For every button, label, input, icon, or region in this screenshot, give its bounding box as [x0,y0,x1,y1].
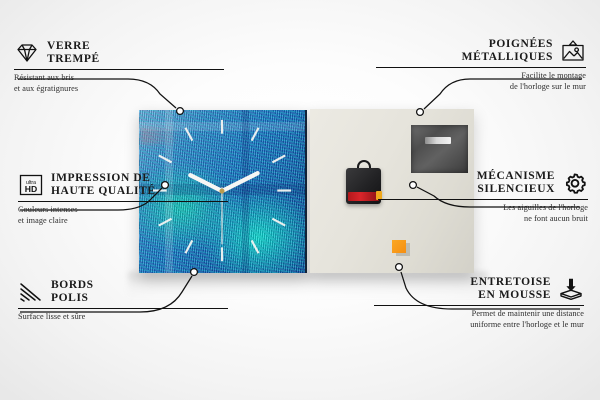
feature-header: ENTRETOISE EN MOUSSE [374,276,584,302]
framed-picture-hanging-icon [560,39,586,63]
feature-header: VERRE TREMPÉ [14,40,224,66]
feature-divider [374,305,584,306]
feature-title: POIGNÉES MÉTALLIQUES [462,38,553,64]
feature-header: ultra HD IMPRESSION DE HAUTE QUALITÉ [18,172,228,198]
svg-text:HD: HD [25,184,37,194]
polished-edge-stripes-icon [18,280,44,304]
feature-bords-polis[interactable]: BORDS POLIS Surface lisse et sûre [18,279,228,323]
hanger-keyhole-slot [425,137,451,144]
feature-verre-trempe[interactable]: VERRE TREMPÉ Résistant aux bris et aux é… [14,40,224,94]
feature-description: Permet de maintenir une distance uniform… [374,309,584,331]
feature-header: MÉCANISME SILENCIEUX [378,170,588,196]
feature-divider [14,69,224,70]
feature-entretoise-en-mousse[interactable]: ENTRETOISE EN MOUSSE Permet de maintenir… [374,276,584,330]
feature-description: Facilite le montage de l'horloge sur le … [376,71,586,93]
foam-spacer [392,240,406,253]
feature-title: MÉCANISME SILENCIEUX [477,170,555,196]
diamond-icon [14,41,40,65]
feature-divider [18,308,228,309]
feature-divider [378,199,588,200]
feature-header: POIGNÉES MÉTALLIQUES [376,38,586,64]
metal-hanger-bracket-icon [411,125,468,173]
feature-title: ENTRETOISE EN MOUSSE [470,276,551,302]
feature-description: Les aiguilles de l'horloge ne font aucun… [378,203,588,225]
gear-icon [562,171,588,195]
feature-divider [376,67,586,68]
feature-description: Résistant aux bris et aux égratignures [14,73,224,95]
infographic-canvas: VERRE TREMPÉ Résistant aux bris et aux é… [0,0,600,400]
arrow-onto-foam-icon [558,277,584,301]
feature-title: VERRE TREMPÉ [47,40,100,66]
feature-mecanisme-silencieux[interactable]: MÉCANISME SILENCIEUX Les aiguilles de l'… [378,170,588,224]
feature-description: Surface lisse et sûre [18,312,228,323]
feature-description: Couleurs intenses et image claire [18,205,228,227]
feature-title: BORDS POLIS [51,279,94,305]
aa-battery [348,192,379,201]
feature-impression-haute-qualite[interactable]: ultra HD IMPRESSION DE HAUTE QUALITÉ Cou… [18,172,228,226]
feature-divider [18,201,228,202]
feature-header: BORDS POLIS [18,279,228,305]
ultra-hd-badge-icon: ultra HD [18,173,44,197]
feature-poignees-metalliques[interactable]: POIGNÉES MÉTALLIQUES Facilite le montage… [376,38,586,92]
feature-title: IMPRESSION DE HAUTE QUALITÉ [51,172,156,198]
